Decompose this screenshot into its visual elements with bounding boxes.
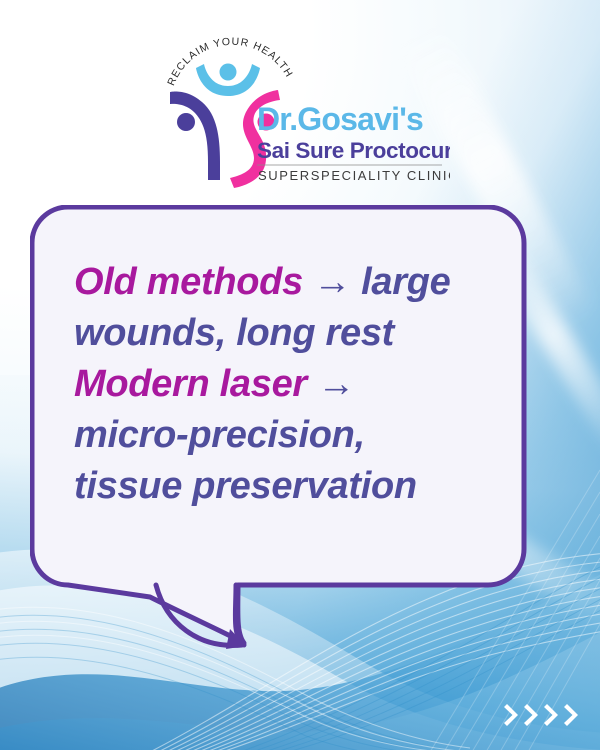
poster-canvas: RECLAIM YOUR HEALTH: [0, 0, 600, 750]
logo-graphic: RECLAIM YOUR HEALTH: [150, 30, 450, 200]
bubble-line: wounds, long rest: [74, 308, 504, 359]
bubble-line-4-text: micro-precision,: [74, 414, 365, 456]
bubble-line-2-text: wounds, long rest: [74, 312, 394, 354]
chevron-right-icon: [564, 702, 582, 728]
bubble-line: tissue preservation: [74, 461, 504, 512]
logo-figure-center: [196, 64, 260, 97]
bubble-line-5-text: tissue preservation: [74, 465, 417, 507]
bubble-line-1-highlight: Old methods: [74, 261, 303, 303]
logo-brand-line-2: Sai Sure Proctocure: [257, 138, 450, 163]
logo-figure-left: [170, 91, 220, 180]
brand-logo: RECLAIM YOUR HEALTH: [0, 30, 600, 200]
swipe-chevrons[interactable]: [504, 702, 582, 728]
bubble-line: Modern laser →: [74, 359, 504, 410]
logo-brand-line-3: SUPERSPECIALITY CLINIC: [258, 168, 450, 183]
chevron-right-icon: [524, 702, 542, 728]
bubble-line: Old methods → large: [74, 257, 504, 308]
bubble-line-3-highlight: Modern laser: [74, 363, 307, 405]
chevron-right-icon: [504, 702, 522, 728]
speech-bubble: Old methods → large wounds, long rest Mo…: [30, 205, 540, 665]
arrow-right-icon: →: [317, 363, 355, 405]
chevron-right-icon: [544, 702, 562, 728]
speech-bubble-text: Old methods → large wounds, long rest Mo…: [74, 257, 504, 512]
bubble-line: micro-precision,: [74, 410, 504, 461]
logo-brand-line-1: Dr.Gosavi's: [257, 101, 423, 137]
bubble-line-1-rest: large: [351, 261, 451, 303]
arrow-right-icon: →: [313, 261, 351, 303]
